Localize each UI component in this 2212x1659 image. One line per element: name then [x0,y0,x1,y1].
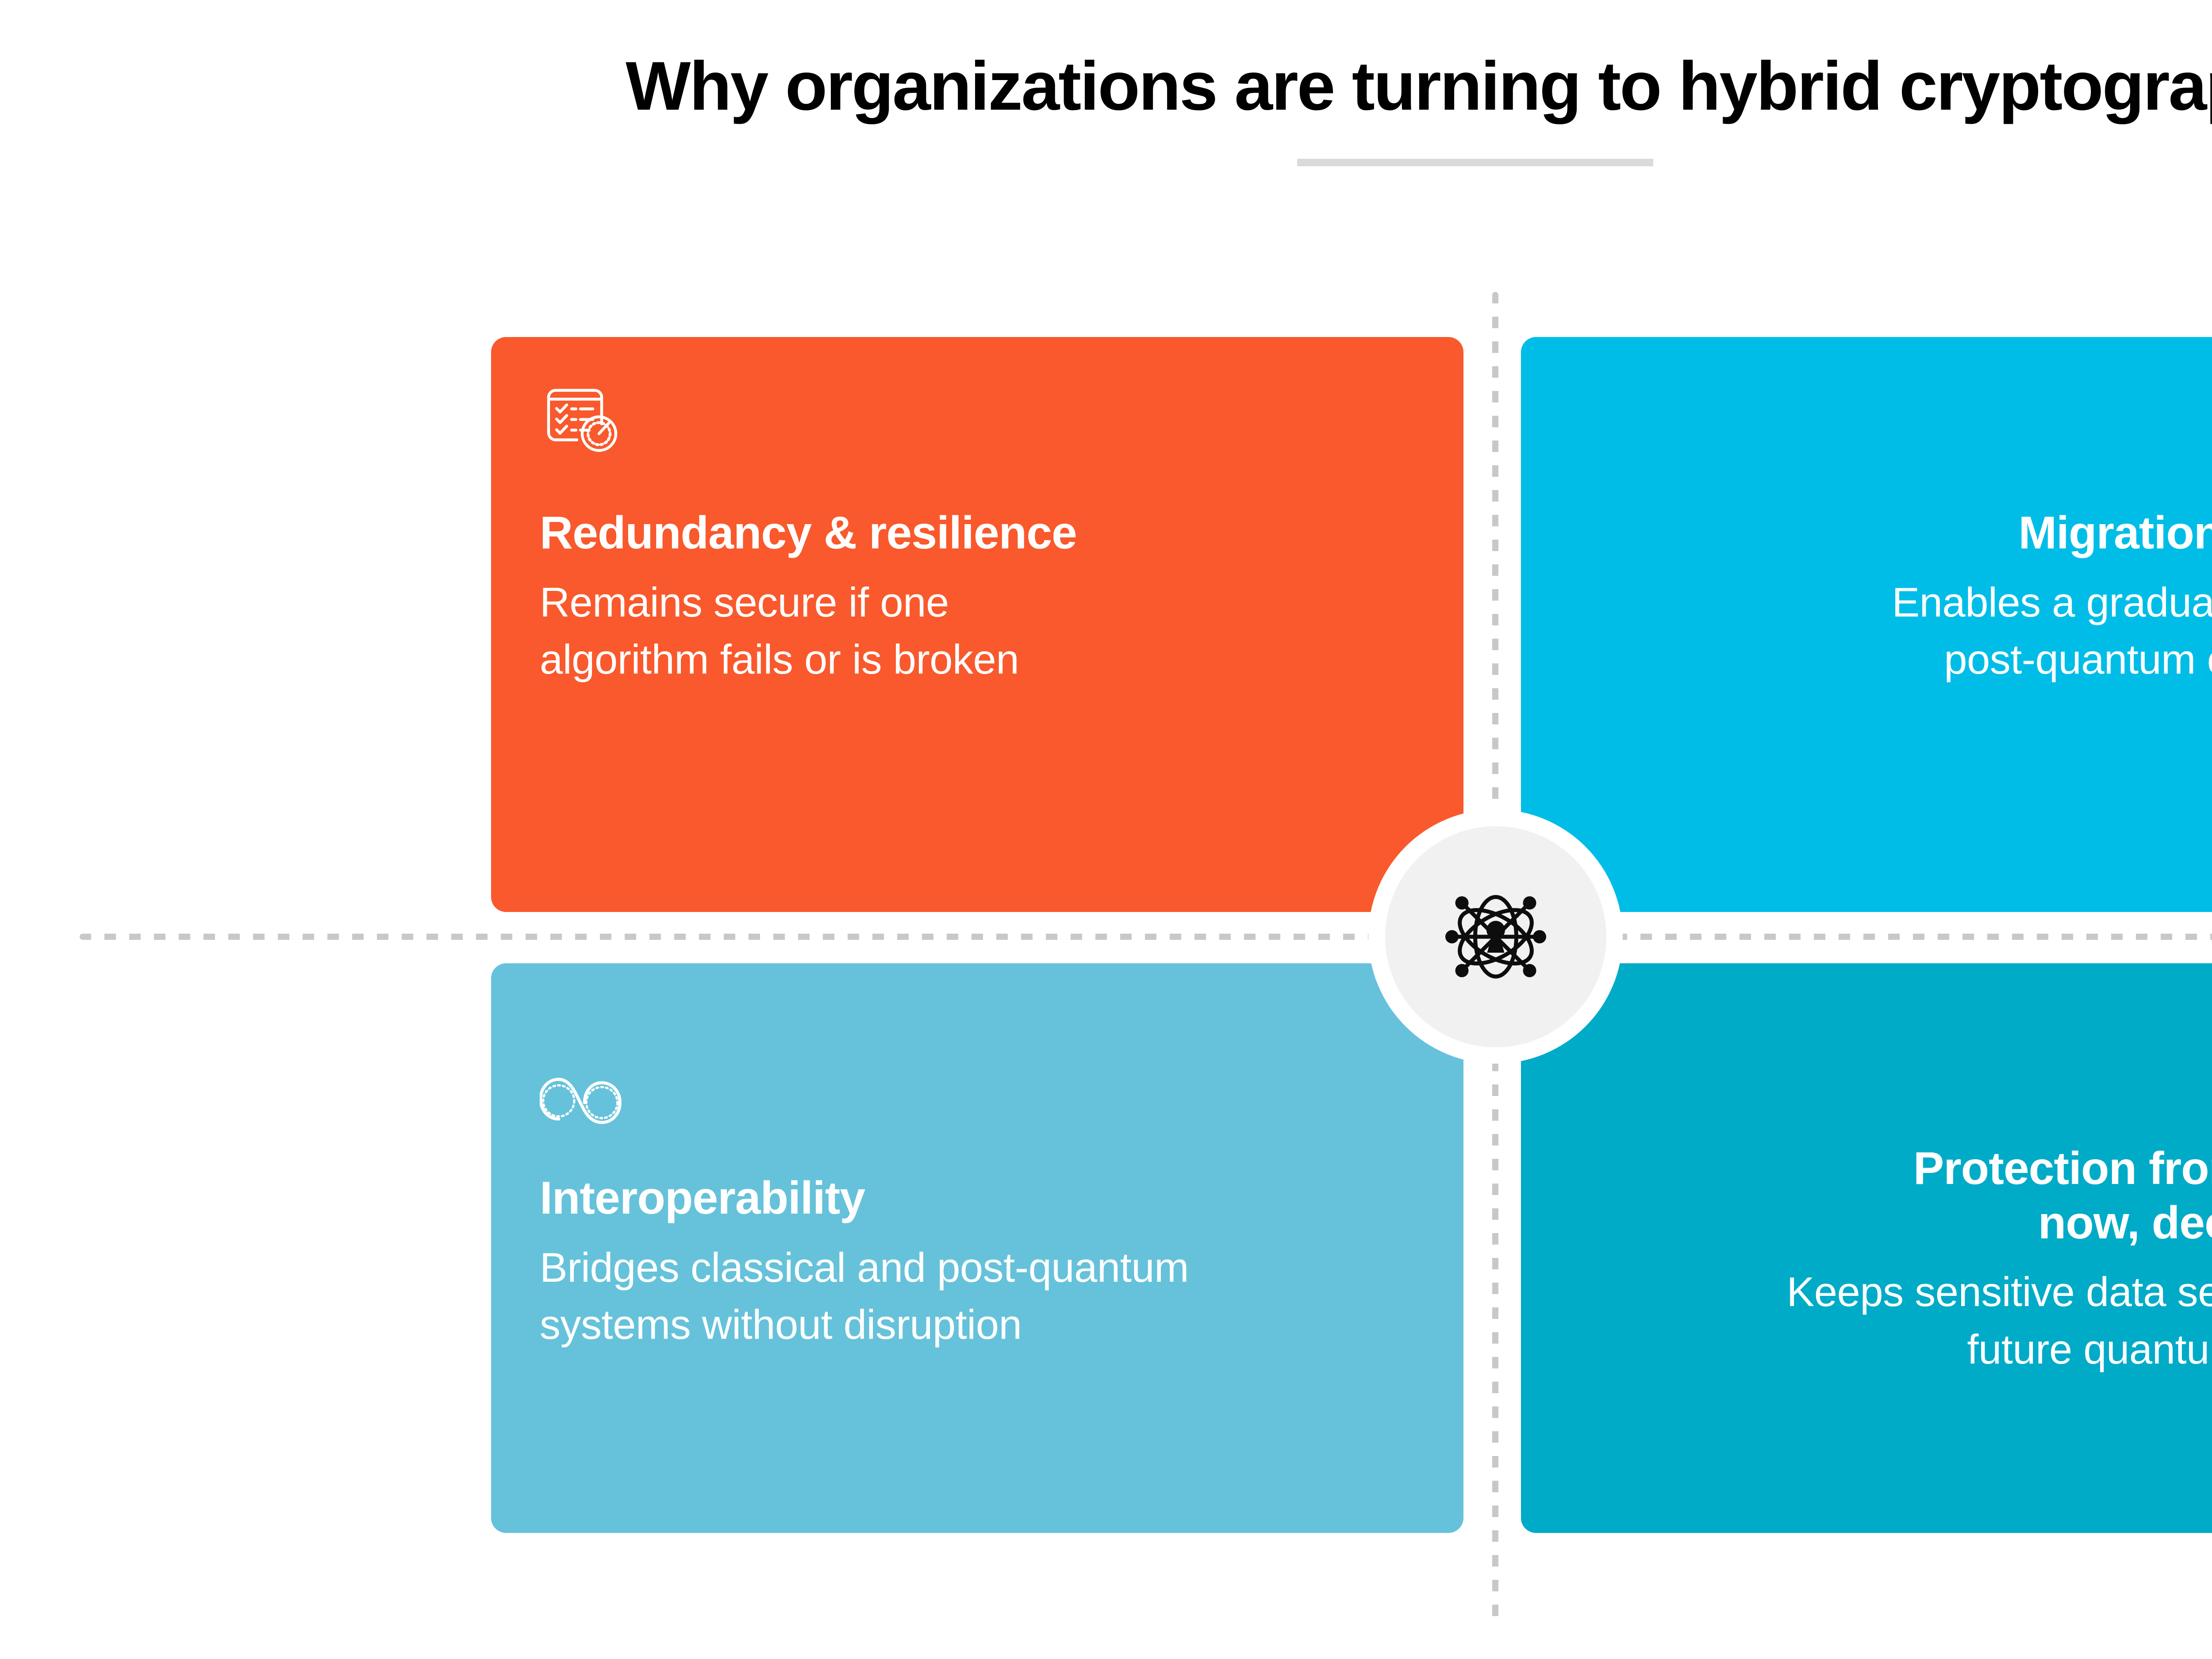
card-body: Keeps sensitive data secure against futu… [1787,1263,2212,1378]
infinity-loop-icon [540,1074,626,1153]
card-body-line-1: Enables a gradual shift toward [1892,574,2212,631]
card-title: Redundancy & resilience [540,506,1077,560]
card-title: Interoperability [540,1171,865,1226]
header: Why organizations are turning to hybrid … [0,48,2212,166]
card-title-line-2: now, decrypt later” [1913,1196,2212,1250]
card-body: Bridges classical and post-quantum syste… [540,1239,1189,1353]
center-hub [1368,809,1623,1064]
checklist-gauge-icon [540,378,628,479]
card-body: Remains secure if one algorithm fails or… [540,574,1019,688]
cracked-database-icon [1570,1030,2212,1125]
card-body-line-1: Keeps sensitive data secure against [1787,1263,2212,1321]
card-body-line-2: systems without disruption [540,1296,1189,1353]
card-title: Protection from “harvest now, decrypt la… [1913,1142,2212,1250]
page-title: Why organizations are turning to hybrid … [0,48,2212,125]
horizontal-dashed-divider [80,934,2212,940]
center-hub-disc [1385,826,1606,1047]
card-redundancy-resilience[interactable]: Redundancy & resilience Remains secure i… [491,337,1463,912]
card-title-line-1: Protection from “harvest [1913,1142,2212,1196]
title-underline-bar [1297,159,1653,166]
card-harvest-now-decrypt-later[interactable]: Protection from “harvest now, decrypt la… [1521,963,2212,1533]
card-body-line-1: Bridges classical and post-quantum [540,1239,1189,1296]
card-body-line-2: future quantum decryption [1787,1321,2212,1378]
card-body-line-2: algorithm fails or is broken [540,631,1019,688]
card-body-line-1: Remains secure if one [540,574,1019,631]
gear-check-arrow-icon [1570,378,2212,479]
card-interoperability[interactable]: Interoperability Bridges classical and p… [491,963,1463,1533]
card-title: Migration readiness [2019,506,2212,560]
atom-keyhole-icon [1429,870,1562,1003]
card-body: Enables a gradual shift toward post-quan… [1892,574,2212,688]
card-migration-readiness[interactable]: Migration readiness Enables a gradual sh… [1521,337,2212,912]
infographic-canvas: Why organizations are turning to hybrid … [0,0,2212,1659]
card-body-line-2: post-quantum cryptography [1892,631,2212,688]
